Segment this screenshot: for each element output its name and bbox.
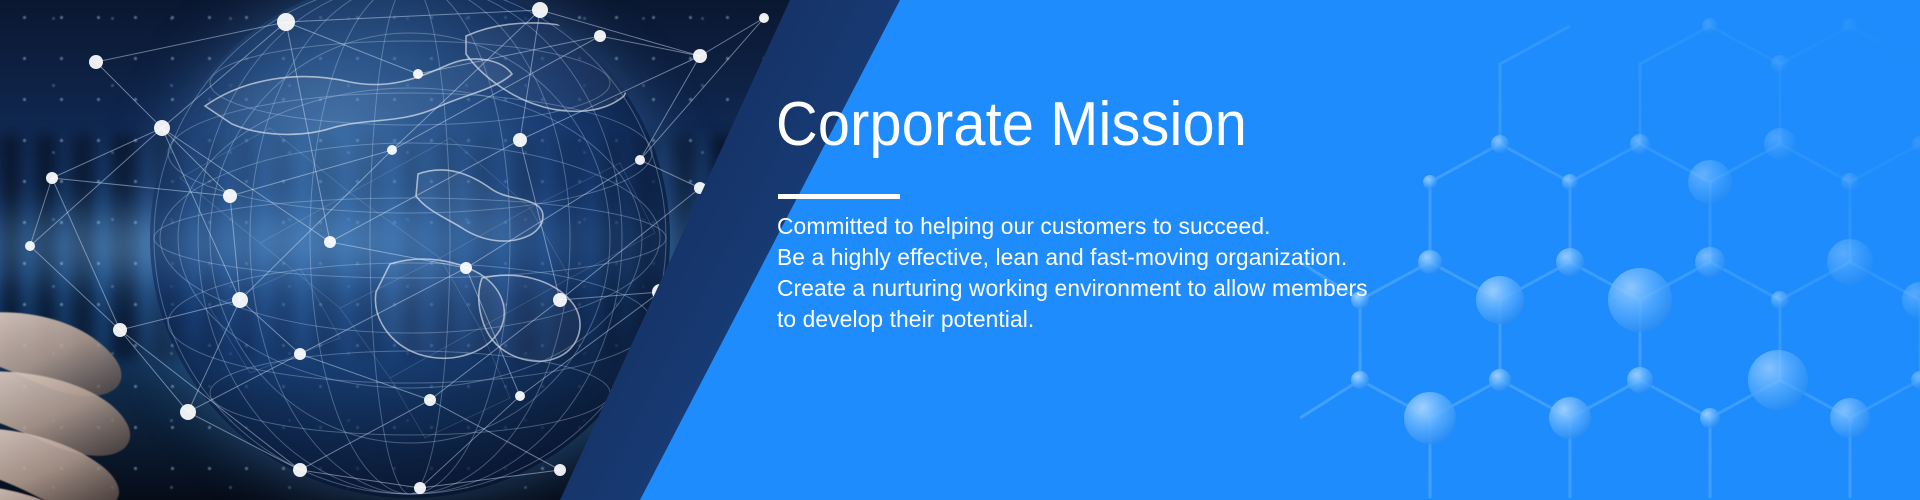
mission-line-3: Create a nurturing working environment t… [777, 273, 1368, 304]
mission-line-4: to develop their potential. [777, 304, 1368, 335]
mission-line-2: Be a highly effective, lean and fast-mov… [777, 242, 1368, 273]
page-title: Corporate Mission [776, 92, 1247, 157]
globe-network-photo [0, 0, 910, 500]
mission-line-1: Committed to helping our customers to su… [777, 211, 1368, 242]
corporate-mission-banner: Corporate Mission Committed to helping o… [0, 0, 1920, 500]
banner-text-content: Corporate Mission Committed to helping o… [776, 0, 1876, 500]
hand-reaching [0, 280, 300, 500]
title-divider [778, 194, 900, 199]
mission-statement: Committed to helping our customers to su… [777, 211, 1368, 335]
